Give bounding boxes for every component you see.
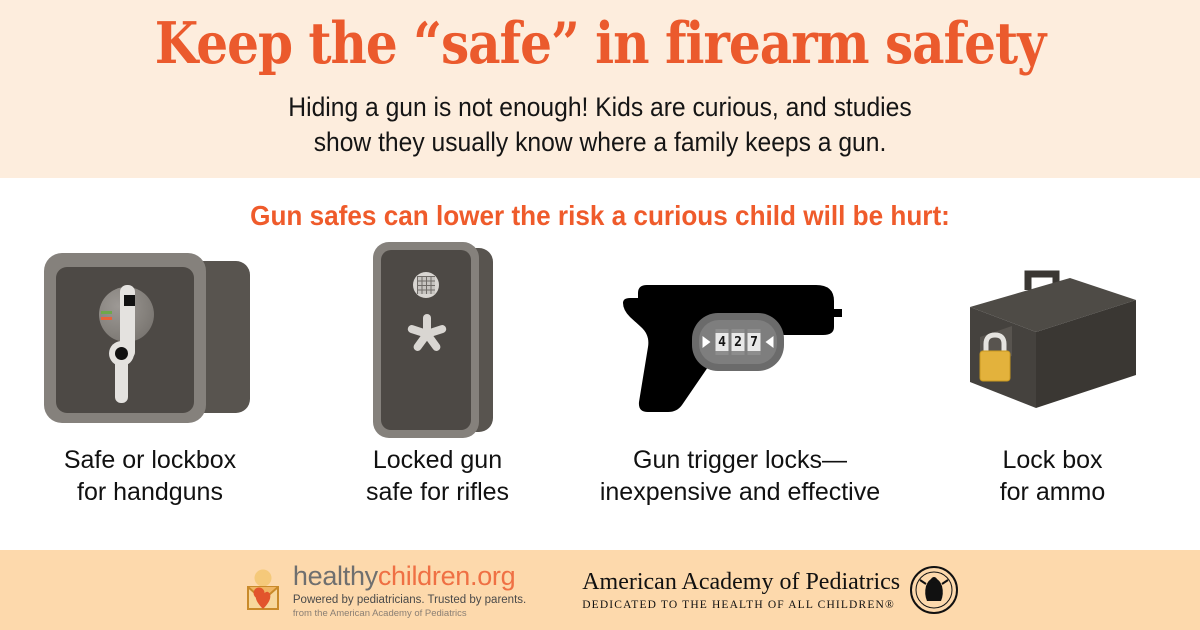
led-orange-icon	[101, 317, 112, 320]
combination-dials: 4 2 7	[703, 329, 774, 355]
safe-body	[373, 242, 479, 438]
aap-tagline: DEDICATED TO THE HEALTH OF ALL CHILDREN®	[582, 599, 900, 611]
keypad-icon	[413, 272, 439, 298]
card-label: Gun trigger locks— inexpensive and effec…	[600, 444, 880, 508]
subtitle-line-1: Hiding a gun is not enough! Kids are cur…	[42, 90, 1158, 125]
keyhole-center	[115, 347, 128, 360]
arrow-right-icon	[766, 336, 774, 348]
lock-digit-3: 7	[748, 329, 761, 355]
card-art	[300, 240, 575, 440]
card-label-line-1: Gun trigger locks—	[600, 444, 880, 476]
dial-display-icon	[124, 295, 135, 306]
healthychildren-tagline: Powered by pediatricians. Trusted by par…	[293, 594, 526, 606]
safe-dial-icon	[99, 287, 154, 342]
footer-band: healthychildren.org Powered by pediatric…	[0, 550, 1200, 630]
word-children-org: children.org	[378, 561, 515, 591]
card-label-line-1: Safe or lockbox	[64, 444, 236, 476]
card-handgun-safe: Safe or lockbox for handguns	[0, 240, 300, 540]
gun-trigger-lock-icon: 4 2 7	[620, 265, 860, 415]
combination-lock-inner: 4 2 7	[699, 320, 777, 364]
healthychildren-attribution: from the American Academy of Pediatrics	[293, 608, 526, 619]
arrow-left-icon	[703, 336, 711, 348]
card-label-line-2: inexpensive and effective	[600, 476, 880, 508]
card-label-line-1: Lock box	[1000, 444, 1106, 476]
card-label-line-2: safe for rifles	[366, 476, 509, 508]
aap-wordmark: American Academy of Pediatrics DEDICATED…	[582, 569, 900, 610]
lock-box-shape	[958, 260, 1148, 420]
aap-seal-icon	[910, 566, 958, 614]
card-ammo-lock-box: Lock box for ammo	[905, 240, 1200, 540]
card-gun-trigger-lock: 4 2 7 Gun trigger locks— inexpensive and…	[575, 240, 905, 540]
aap-name: American Academy of Pediatrics	[582, 569, 900, 595]
card-label-line-2: for ammo	[1000, 476, 1106, 508]
rifle-safe-icon	[373, 242, 503, 438]
subtitle-line-2: show they usually know where a family ke…	[42, 125, 1158, 160]
healthychildren-wordmark: healthychildren.org Powered by pediatric…	[293, 563, 526, 619]
keypad-grid	[417, 276, 435, 294]
handgun-safe-icon	[44, 251, 256, 429]
safe-door-face	[56, 267, 194, 413]
lock-digit-1: 4	[716, 329, 729, 355]
led-green-icon	[101, 311, 112, 314]
card-art	[905, 240, 1200, 440]
header-band: Keep the “safe” in firearm safety Hiding…	[0, 0, 1200, 178]
card-art: 4 2 7	[575, 240, 905, 440]
lock-digit-2: 2	[732, 329, 745, 355]
combination-lock-body: 4 2 7	[692, 313, 784, 371]
section-kicker: Gun safes can lower the risk a curious c…	[30, 200, 1170, 232]
healthychildren-word: healthychildren.org	[293, 563, 526, 590]
footer-content: healthychildren.org Powered by pediatric…	[0, 550, 1200, 630]
main-section: Gun safes can lower the risk a curious c…	[0, 178, 1200, 550]
safe-handle-wheel-icon	[405, 312, 449, 356]
wheel-hub	[421, 328, 433, 340]
aap-logo[interactable]: American Academy of Pediatrics DEDICATED…	[582, 566, 958, 614]
page-subtitle: Hiding a gun is not enough! Kids are cur…	[42, 90, 1158, 160]
card-art	[0, 240, 300, 440]
safe-door-face	[381, 250, 471, 430]
card-label-line-1: Locked gun	[366, 444, 509, 476]
ammo-lock-box-icon	[958, 260, 1148, 420]
page-title: Keep the “safe” in firearm safety	[72, 14, 1128, 74]
card-label-line-2: for handguns	[64, 476, 236, 508]
cards-row: Safe or lockbox for handguns	[0, 240, 1200, 540]
word-healthy: healthy	[293, 561, 378, 591]
infographic-page: Keep the “safe” in firearm safety Hiding…	[0, 0, 1200, 630]
card-label: Safe or lockbox for handguns	[64, 444, 236, 508]
healthychildren-house-icon	[242, 568, 284, 612]
card-label: Lock box for ammo	[1000, 444, 1106, 508]
safe-body	[44, 253, 206, 423]
healthychildren-logo[interactable]: healthychildren.org Powered by pediatric…	[242, 562, 526, 618]
card-label: Locked gun safe for rifles	[366, 444, 509, 508]
card-rifle-safe: Locked gun safe for rifles	[300, 240, 575, 540]
